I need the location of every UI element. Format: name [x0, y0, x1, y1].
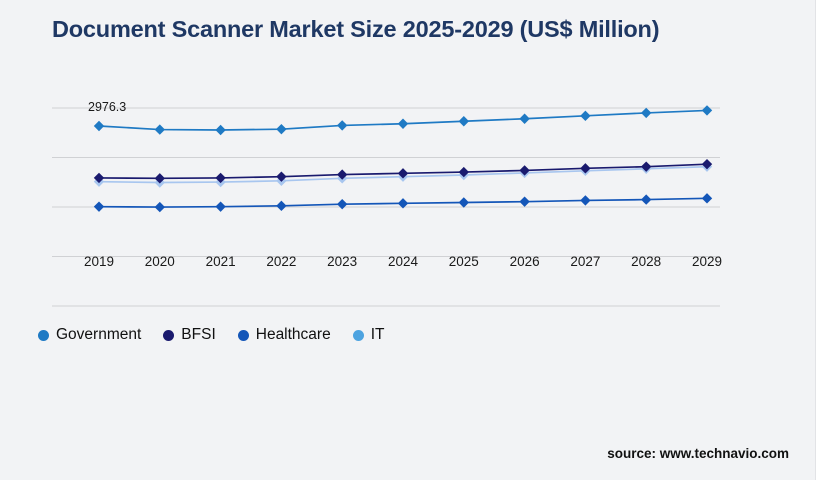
legend-dot-icon	[238, 330, 249, 341]
data-point-healthcare-2028	[641, 194, 651, 204]
chart-canvas	[52, 100, 720, 250]
data-label-government-2019: 2976.3	[88, 100, 126, 114]
x-tick-2019: 2019	[69, 254, 129, 269]
x-tick-2024: 2024	[373, 254, 433, 269]
data-point-healthcare-2027	[580, 195, 590, 205]
data-point-healthcare-2019	[94, 201, 104, 211]
legend-item-bfsi[interactable]: BFSI	[163, 326, 215, 344]
data-point-government-2028	[641, 108, 651, 118]
data-point-government-2025	[459, 116, 469, 126]
data-point-government-2022	[276, 124, 286, 134]
data-point-government-2024	[398, 119, 408, 129]
legend-item-healthcare[interactable]: Healthcare	[238, 326, 331, 344]
x-tick-2023: 2023	[312, 254, 372, 269]
data-point-healthcare-2023	[337, 199, 347, 209]
chart-figure: Document Scanner Market Size 2025-2029 (…	[0, 0, 816, 480]
source-note: source: www.technavio.com	[607, 446, 789, 461]
data-point-government-2019	[94, 121, 104, 131]
data-point-healthcare-2026	[519, 196, 529, 206]
legend-dot-icon	[353, 330, 364, 341]
legend-label: IT	[371, 326, 385, 344]
data-point-government-2027	[580, 111, 590, 121]
x-tick-2028: 2028	[616, 254, 676, 269]
x-tick-2022: 2022	[251, 254, 311, 269]
legend-dot-icon	[163, 330, 174, 341]
data-point-healthcare-2025	[459, 197, 469, 207]
data-point-government-2020	[155, 124, 165, 134]
legend-label: BFSI	[181, 326, 215, 344]
data-point-healthcare-2029	[702, 193, 712, 203]
chart-legend: GovernmentBFSIHealthcareIT	[38, 324, 407, 346]
data-point-healthcare-2020	[155, 202, 165, 212]
legend-label: Healthcare	[256, 326, 331, 344]
data-point-government-2023	[337, 120, 347, 130]
x-tick-2020: 2020	[130, 254, 190, 269]
data-point-government-2026	[519, 114, 529, 124]
legend-label: Government	[56, 326, 141, 344]
x-axis-tick-labels: 2019202020212022202320242025202620272028…	[52, 254, 720, 276]
legend-dot-icon	[38, 330, 49, 341]
x-tick-2025: 2025	[434, 254, 494, 269]
x-tick-2029: 2029	[677, 254, 737, 269]
data-point-government-2029	[702, 105, 712, 115]
data-point-healthcare-2021	[215, 201, 225, 211]
chart-title: Document Scanner Market Size 2025-2029 (…	[52, 16, 772, 43]
data-point-government-2021	[215, 125, 225, 135]
data-point-healthcare-2022	[276, 201, 286, 211]
series-markers	[94, 105, 712, 212]
legend-item-it[interactable]: IT	[353, 326, 385, 344]
x-tick-2027: 2027	[555, 254, 615, 269]
x-tick-2026: 2026	[495, 254, 555, 269]
x-tick-2021: 2021	[191, 254, 251, 269]
plot-area	[52, 100, 720, 250]
legend-item-government[interactable]: Government	[38, 326, 141, 344]
